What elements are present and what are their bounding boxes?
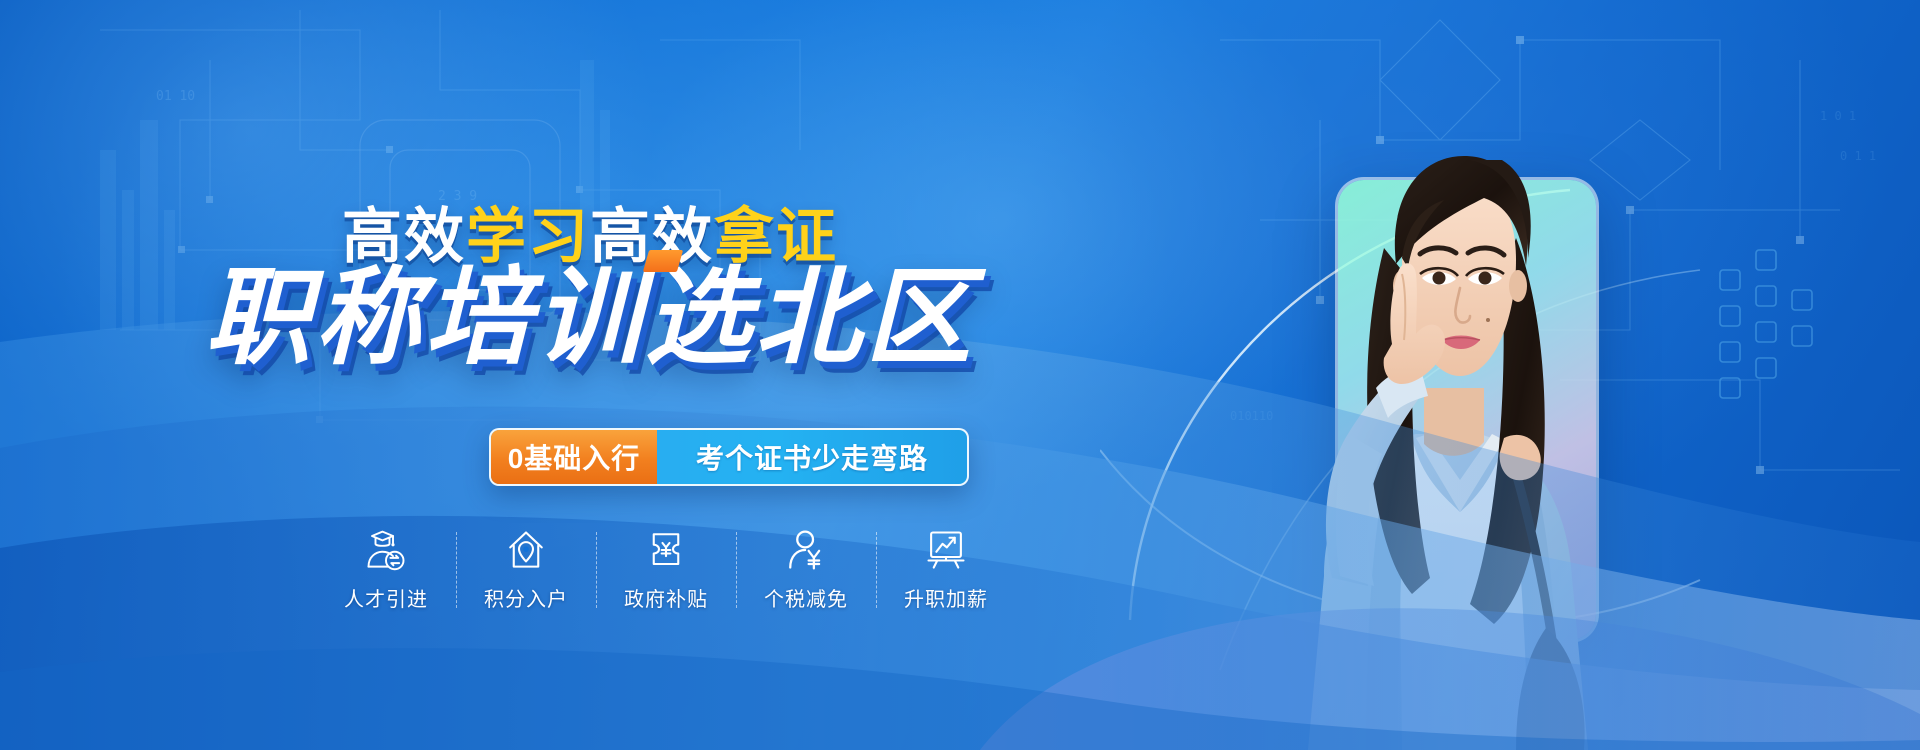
voucher-yuan-icon	[645, 528, 687, 572]
feature-item-tax-reduction[interactable]: 个税减免	[736, 528, 876, 612]
model-photo-businesswoman	[1216, 108, 1636, 750]
promo-banner: 2 3 9 01 10 1011	[0, 0, 1920, 750]
headline-text: 职称培训选北区	[205, 259, 975, 377]
chart-board-icon	[925, 528, 967, 572]
feature-label: 积分入户	[484, 583, 568, 612]
house-pin-icon	[505, 528, 547, 572]
graduate-exchange-icon	[365, 528, 407, 572]
cta-tagline[interactable]: 考个证书少走弯路	[657, 430, 967, 484]
headline: 职称培训选北区	[0, 262, 1180, 374]
svg-text:010110: 010110	[1230, 409, 1273, 423]
orange-accent-mark	[643, 250, 683, 272]
feature-label: 政府补贴	[624, 583, 708, 612]
copy-block: 高效学习高效拿证 职称培训选北区 0基础入行 考个证书少走弯路	[0, 0, 1180, 750]
feature-item-talent-introduction[interactable]: 人才引进	[316, 528, 456, 612]
feature-list: 人才引进 积分入户 政府补贴	[316, 528, 1016, 634]
glass-phone-card	[1338, 180, 1596, 640]
cta-badge[interactable]: 0基础入行	[491, 430, 657, 484]
svg-text:0 1 1: 0 1 1	[1840, 149, 1876, 163]
feature-label: 升职加薪	[904, 583, 988, 612]
cta-banner[interactable]: 0基础入行 考个证书少走弯路	[489, 428, 969, 486]
feature-label: 人才引进	[344, 583, 428, 612]
svg-text:1 0 1: 1 0 1	[1820, 109, 1856, 123]
orbit-arcs	[1100, 150, 1720, 690]
feature-item-government-subsidy[interactable]: 政府补贴	[596, 528, 736, 612]
feature-label: 个税减免	[764, 583, 848, 612]
tech-circuit-pattern-right: 1 0 10 1 1010110	[1200, 0, 1920, 560]
feature-item-points-residency[interactable]: 积分入户	[456, 528, 596, 612]
person-yuan-icon	[785, 528, 827, 572]
feature-item-promotion-raise[interactable]: 升职加薪	[876, 528, 1016, 612]
